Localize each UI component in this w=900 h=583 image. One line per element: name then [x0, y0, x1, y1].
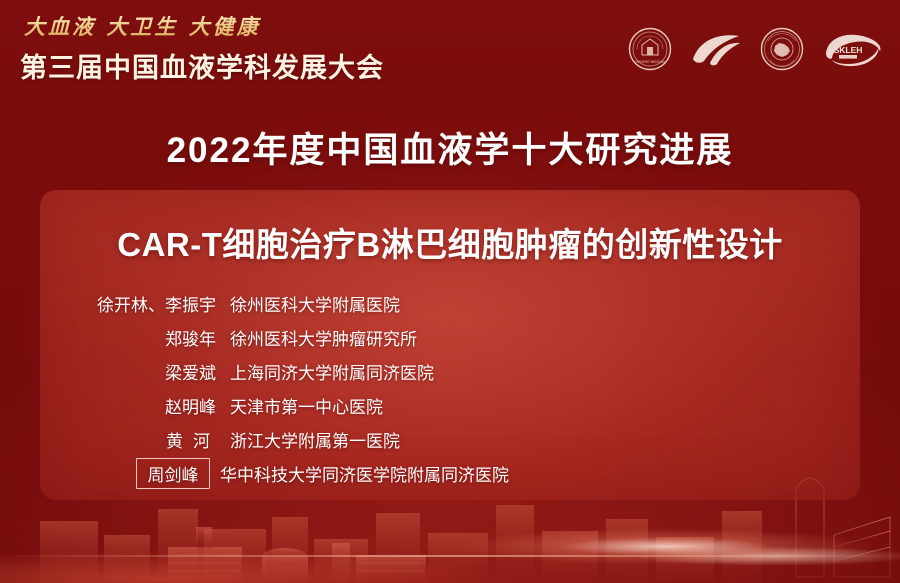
- conference-slogan: 大血液 大卫生 大健康: [24, 11, 261, 41]
- author-name: 赵明峰: [40, 393, 220, 418]
- author-row: 赵明峰天津市第一中心医院: [40, 388, 860, 422]
- author-row: 黄河浙江大学附属第一医院: [40, 422, 860, 456]
- content-panel: CAR-T细胞治疗B淋巴细胞肿瘤的创新性设计 徐开林、李振宇徐州医科大学附属医院…: [40, 190, 860, 500]
- author-name: 郑骏年: [40, 325, 220, 350]
- poster-canvas: 大血液 大卫生 大健康 第三届中国血液学科发展大会 CHINESE MEDICA…: [0, 0, 900, 583]
- author-affiliation: 徐州医科大学附属医院: [220, 291, 860, 316]
- author-name: 徐开林、李振宇: [40, 291, 220, 316]
- conference-title: 第三届中国血液学科发展大会: [20, 46, 384, 85]
- author-name-highlighted: 周剑峰: [136, 458, 210, 489]
- author-affiliation: 徐州医科大学肿瘤研究所: [220, 325, 860, 350]
- author-row: 周剑峰华中科技大学同济医学院附属同济医院: [40, 456, 860, 490]
- ihcams-seal-logo: [760, 27, 804, 71]
- author-row: 梁爱斌上海同济大学附属同济医院: [40, 354, 860, 388]
- author-affiliation: 上海同济大学附属同济医院: [220, 359, 860, 384]
- research-title: CAR-T细胞治疗B淋巴细胞肿瘤的创新性设计: [40, 218, 860, 266]
- author-name: 黄河: [40, 427, 220, 452]
- author-list: 徐开林、李振宇徐州医科大学附属医院郑骏年徐州医科大学肿瘤研究所梁爱斌上海同济大学…: [40, 286, 860, 490]
- logo-group: CHINESE MEDICAL: [628, 26, 884, 72]
- svg-text:CHINESE MEDICAL: CHINESE MEDICAL: [634, 60, 665, 64]
- poster-header: 大血液 大卫生 大健康 第三届中国血液学科发展大会 CHINESE MEDICA…: [0, 0, 900, 96]
- skleh-logo-text: SKLEH: [834, 45, 863, 55]
- author-affiliation: 华中科技大学同济医学院附属同济医院: [220, 461, 860, 486]
- author-name: 梁爱斌: [40, 359, 220, 384]
- swoosh-logo: [690, 31, 742, 67]
- cma-seal-logo: CHINESE MEDICAL: [628, 27, 672, 71]
- author-row: 郑骏年徐州医科大学肿瘤研究所: [40, 320, 860, 354]
- author-affiliation: 浙江大学附属第一医院: [220, 427, 860, 452]
- author-affiliation: 天津市第一中心医院: [220, 393, 860, 418]
- author-row: 徐开林、李振宇徐州医科大学附属医院: [40, 286, 860, 320]
- skleh-logo: SKLEH: [822, 29, 884, 69]
- page-title: 2022年度中国血液学十大研究进展: [0, 122, 900, 173]
